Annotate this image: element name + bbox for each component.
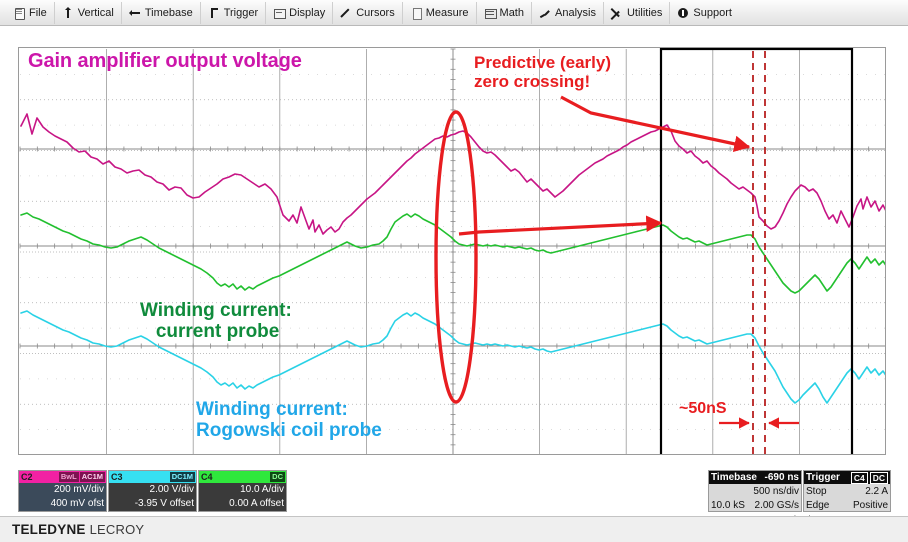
brand-teledyne: TELEDYNE xyxy=(12,522,86,537)
trigger-label: Trigger xyxy=(806,472,840,483)
trigger-header: Trigger C4 DC xyxy=(804,471,890,484)
menu-item-utilities[interactable]: Utilities xyxy=(604,2,670,24)
menu-item-file[interactable]: File xyxy=(6,2,55,24)
channel-scale-c4: 10.0 A/div xyxy=(199,483,286,497)
menu-item-label: Timebase xyxy=(145,7,193,19)
timebase-header: Timebase -690 ns xyxy=(709,471,801,484)
trigger-state: Stop xyxy=(806,486,827,497)
waveform-grid[interactable]: C2C4C3 xyxy=(18,47,886,455)
channel-badge-ac1m: AC1M xyxy=(80,472,105,482)
channel-header-c4: C4 DC xyxy=(199,471,286,483)
highlight-ellipse xyxy=(436,112,476,402)
file-icon xyxy=(13,7,25,19)
timebase-descriptor[interactable]: Timebase -690 ns 500 ns/div 10.0 kS 2.00… xyxy=(708,470,802,512)
channel-offset-c3: -3.95 V offset xyxy=(109,497,196,511)
display-icon xyxy=(273,7,285,19)
status-bar-right: Timebase -690 ns 500 ns/div 10.0 kS 2.00… xyxy=(708,470,891,512)
math-icon xyxy=(484,7,496,19)
menu-item-display[interactable]: Display xyxy=(266,2,333,24)
brand-lecroy: LECROY xyxy=(90,522,145,537)
timebase-per-div: 500 ns/div xyxy=(753,486,799,497)
trigger-coupling-badge: DC xyxy=(870,472,888,484)
menu-item-timebase[interactable]: Timebase xyxy=(122,2,201,24)
analysis-waveform-icon xyxy=(539,7,551,19)
menu-item-label: Vertical xyxy=(78,7,114,19)
menu-item-label: Display xyxy=(289,7,325,19)
menu-item-math[interactable]: Math xyxy=(477,2,532,24)
menu-item-label: Support xyxy=(693,7,732,19)
timebase-label: Timebase xyxy=(711,472,757,483)
measure-icon xyxy=(410,7,422,19)
timebase-sample-row: 10.0 kS 2.00 GS/s xyxy=(709,498,801,512)
cursor-icon xyxy=(340,7,352,19)
menu-item-trigger[interactable]: Trigger xyxy=(201,2,266,24)
waveform-canvas[interactable]: C2C4C3 xyxy=(19,48,885,454)
trigger-type-row: Edge Positive xyxy=(804,498,890,512)
channel-scale-c2: 200 mV/div xyxy=(19,483,106,497)
baseline-axis-1 xyxy=(20,244,885,249)
channel-offset-c4: 0.00 A offset xyxy=(199,497,286,511)
channel-badge-bwl: BwL xyxy=(59,472,79,482)
menu-item-vertical[interactable]: Vertical xyxy=(55,2,122,24)
menu-item-label: Trigger xyxy=(224,7,258,19)
channel-badge-dc1m: DC1M xyxy=(170,472,195,482)
baseline-axis-2 xyxy=(20,344,885,349)
menu-bar: FileVerticalTimebaseTriggerDisplayCursor… xyxy=(0,0,908,26)
support-info-icon xyxy=(677,7,689,19)
menu-item-support[interactable]: Support xyxy=(670,2,739,24)
annotation-predictive-zero-crossing: Predictive (early) zero crossing! xyxy=(474,53,611,91)
menu-item-analysis[interactable]: Analysis xyxy=(532,2,604,24)
timebase-delay: -690 ns xyxy=(765,472,799,483)
trigger-type: Edge xyxy=(806,500,829,511)
annotation-gain-amplifier: Gain amplifier output voltage xyxy=(28,50,302,72)
menu-item-label: File xyxy=(29,7,47,19)
menu-item-measure[interactable]: Measure xyxy=(403,2,477,24)
annotation-winding-current-probe: Winding current: current probe xyxy=(140,300,292,343)
center-vertical-axis xyxy=(451,49,456,454)
channel-descriptor-c3[interactable]: C3 DC1M 2.00 V/div -3.95 V offset xyxy=(108,470,197,512)
channel-name-c3: C3 xyxy=(110,472,123,482)
vertical-arrows-icon xyxy=(62,7,74,19)
channel-header-c3: C3 DC1M xyxy=(109,471,196,483)
timebase-memory: 10.0 kS xyxy=(711,500,745,511)
channel-descriptor-c4[interactable]: C4 DC 10.0 A/div 0.00 A offset xyxy=(198,470,287,512)
channel-badge-dc: DC xyxy=(270,472,285,482)
trigger-slope: Positive xyxy=(853,500,888,511)
channel-scale-c3: 2.00 V/div xyxy=(109,483,196,497)
channel-name-c4: C4 xyxy=(200,472,213,482)
channel-name-c2: C2 xyxy=(20,472,33,482)
annotation-delta-time: ~50nS xyxy=(679,400,727,418)
menu-item-label: Analysis xyxy=(555,7,596,19)
utilities-scissors-icon xyxy=(611,7,623,19)
annotation-winding-rogowski: Winding current: Rogowski coil probe xyxy=(196,399,382,442)
arrow-predictive-upper xyxy=(561,97,749,147)
timebase-sample-rate: 2.00 GS/s xyxy=(755,500,799,511)
menu-item-label: Utilities xyxy=(627,7,662,19)
channel-descriptor-c2[interactable]: C2 BwL AC1M 200 mV/div 400 mV ofst xyxy=(18,470,107,512)
oscilloscope-screen: FileVerticalTimebaseTriggerDisplayCursor… xyxy=(0,0,908,542)
trigger-level: 2.2 A xyxy=(865,486,888,497)
trigger-source-badge: C4 xyxy=(851,472,868,484)
channel-header-c2: C2 BwL AC1M xyxy=(19,471,106,483)
menu-item-label: Math xyxy=(500,7,524,19)
menu-item-label: Measure xyxy=(426,7,469,19)
timebase-perdiv-row: 500 ns/div xyxy=(709,484,801,498)
menu-item-label: Cursors xyxy=(356,7,395,19)
zoom-region-box[interactable] xyxy=(661,49,852,454)
menu-item-cursors[interactable]: Cursors xyxy=(333,2,403,24)
brand-bar: TELEDYNE LECROY xyxy=(0,516,908,542)
trigger-state-row: Stop 2.2 A xyxy=(804,484,890,498)
trigger-descriptor[interactable]: Trigger C4 DC Stop 2.2 A Edge Positive xyxy=(803,470,891,512)
trigger-slope-icon xyxy=(208,7,220,19)
channel-offset-c2: 400 mV ofst xyxy=(19,497,106,511)
channel-descriptor-row: C2 BwL AC1M 200 mV/div 400 mV ofst C3 DC… xyxy=(18,470,287,512)
horizontal-arrows-icon xyxy=(129,7,141,19)
